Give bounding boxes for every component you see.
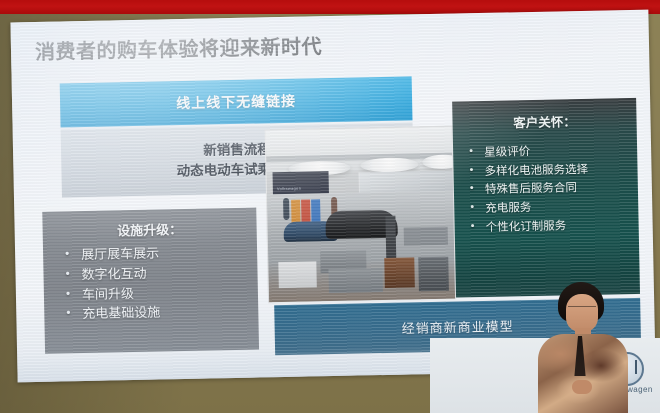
presenter-face bbox=[566, 294, 598, 332]
presenter-hands bbox=[572, 380, 592, 394]
panel-online-offline-label: 线上线下无缝链接 bbox=[60, 88, 412, 115]
photo-pillar bbox=[385, 216, 396, 260]
photo-visitor bbox=[283, 198, 289, 220]
showroom-photo: Volkswagen bbox=[265, 126, 456, 304]
photo-poster bbox=[301, 199, 310, 223]
photo-brand-sign-text: Volkswagen bbox=[277, 186, 301, 191]
photo-poster bbox=[311, 199, 320, 223]
presenter-glasses-icon bbox=[568, 306, 596, 313]
panel-online-offline: 线上线下无缝链接 bbox=[60, 76, 413, 127]
photo-brand-sign: Volkswagen bbox=[273, 171, 329, 194]
photo-desk bbox=[404, 227, 448, 246]
photo-ceiling-lamp bbox=[422, 154, 456, 169]
customer-care-title: 客户关怀： bbox=[452, 110, 636, 133]
photo-coffee-table bbox=[278, 261, 317, 288]
panel-facility-upgrade: 设施升级： 展厅展车展示 数字化互动 车间升级 充电基础设施 bbox=[42, 208, 259, 354]
conference-photo-scene: 消费者的购车体验将迎来新时代 线上线下无缝链接 新销售流程 动态电动车试乘试驾 … bbox=[0, 0, 660, 413]
list-item: 充电基础设施 bbox=[66, 301, 252, 324]
photo-armchair bbox=[384, 257, 415, 288]
photo-chair bbox=[418, 257, 449, 292]
list-item: 个性化订制服务 bbox=[470, 215, 634, 237]
facility-upgrade-title: 设施升级： bbox=[42, 218, 256, 241]
photo-poster bbox=[291, 200, 300, 224]
photo-sofa bbox=[328, 268, 382, 293]
facility-upgrade-list: 展厅展车展示 数字化互动 车间升级 充电基础设施 bbox=[43, 242, 259, 325]
presenter bbox=[528, 276, 636, 413]
slide-title: 消费者的购车体验将迎来新时代 bbox=[35, 26, 555, 65]
customer-care-list: 星级评价 多样化电池服务选择 特殊售后服务合同 充电服务 个性化订制服务 bbox=[453, 141, 639, 238]
panel-customer-care: 客户关怀： 星级评价 多样化电池服务选择 特殊售后服务合同 充电服务 个性化订制… bbox=[452, 98, 640, 298]
photo-ceiling-lamp bbox=[360, 157, 418, 172]
